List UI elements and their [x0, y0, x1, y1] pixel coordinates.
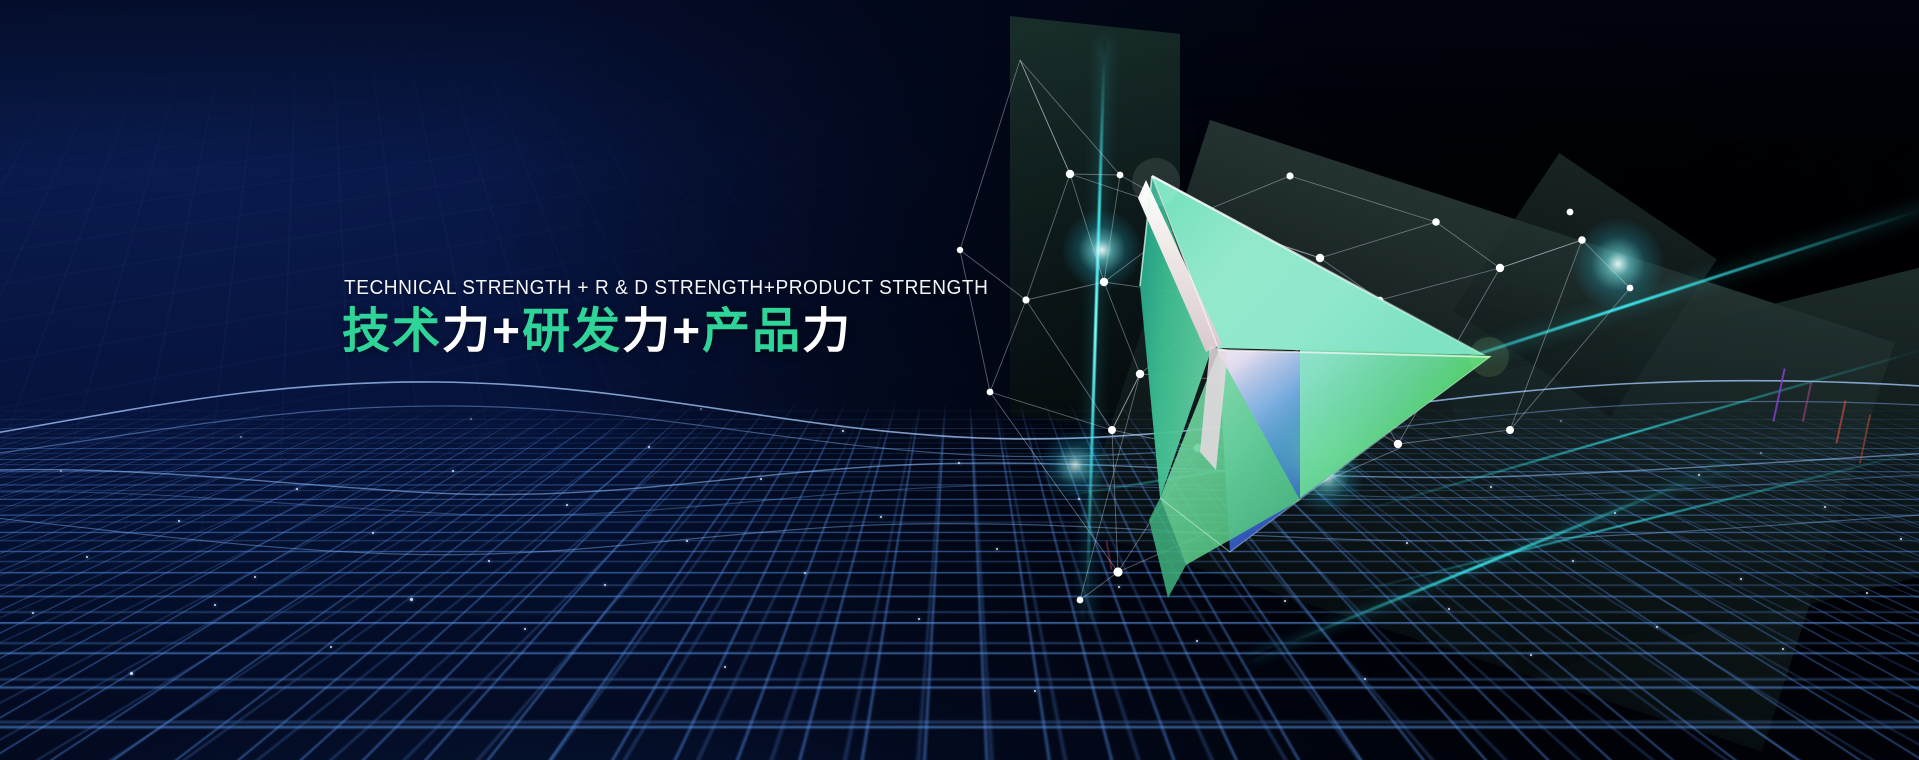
headline-part-rd: 研发: [522, 305, 622, 358]
eyebrow-text: TECHNICAL STRENGTH + R & D STRENGTH+PROD…: [344, 276, 993, 300]
page-title: 技术力+研发力+产品力: [342, 306, 1042, 358]
headline-part-li-3: 力: [802, 305, 852, 358]
headline-part-technical: 技术: [342, 305, 442, 358]
headline-part-li-2: 力: [622, 305, 672, 358]
headline-plus-2: +: [672, 305, 702, 358]
wave-mesh-secondary: [0, 370, 1919, 416]
hero-banner: TECHNICAL STRENGTH + R & D STRENGTH+PROD…: [0, 0, 1919, 760]
wave-terrain: [0, 370, 1919, 760]
wave-glow: [0, 510, 1919, 760]
headline-block: TECHNICAL STRENGTH + R & D STRENGTH+PROD…: [342, 276, 1042, 358]
wave-mesh-primary: [0, 370, 1919, 403]
headline-part-li-1: 力: [442, 305, 492, 358]
headline-part-product: 产品: [702, 305, 802, 358]
headline-plus-1: +: [492, 305, 522, 358]
